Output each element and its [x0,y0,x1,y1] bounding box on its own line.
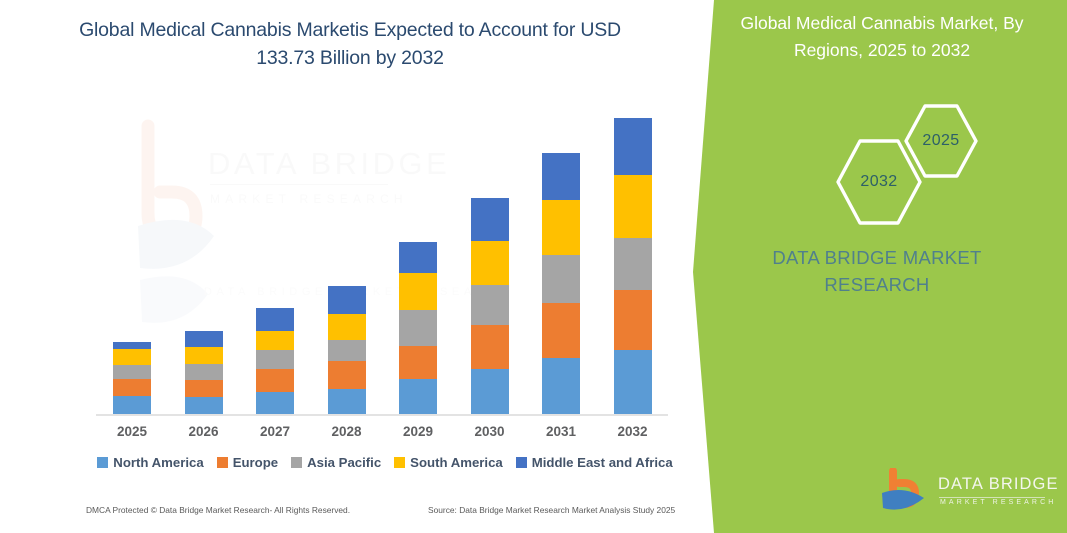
bar-segment [614,175,652,237]
bar-segment [471,369,509,415]
chart-legend: North AmericaEuropeAsia PacificSouth Ame… [96,455,674,470]
legend-item[interactable]: Europe [217,455,278,470]
bar-segment [185,397,223,415]
stacked-bar [113,342,151,415]
data-bridge-logo-icon [880,468,932,514]
bar-segment [113,365,151,379]
page-title: Global Medical Cannabis Marketis Expecte… [60,16,640,72]
legend-item[interactable]: South America [394,455,503,470]
footer: DMCA Protected © Data Bridge Market Rese… [0,505,700,527]
bar-segment [328,314,366,339]
bar-segment [256,392,294,415]
stacked-bar [614,118,652,415]
infographic-root: Global Medical Cannabis Marketis Expecte… [0,0,1067,533]
stacked-bar [542,153,580,415]
legend-swatch-icon [394,457,405,468]
legend-swatch-icon [97,457,108,468]
logo-wordmark: DATA BRIDGE [938,475,1059,494]
legend-swatch-icon [217,457,228,468]
legend-label: Europe [233,455,278,470]
bar-segment [542,153,580,200]
legend-label: South America [410,455,503,470]
stacked-bar [471,198,509,415]
x-axis-tick-label: 2027 [239,424,311,439]
hexagon-badge-start: 2025 [902,102,980,180]
legend-swatch-icon [516,457,527,468]
bar-segment [399,346,437,379]
stacked-bar [185,331,223,415]
logo-divider [939,497,1045,498]
bar-segment [328,361,366,388]
x-axis-tick-label: 2026 [168,424,240,439]
bar-segment [542,200,580,255]
bar-segment [185,380,223,398]
stacked-bar [399,242,437,415]
bar-segment [542,255,580,303]
brand-name: DATA BRIDGE MARKET RESEARCH [722,244,1032,298]
bar-segment [113,396,151,415]
legend-label: North America [113,455,203,470]
bar-segment [471,325,509,369]
x-axis-tick-label: 2028 [311,424,383,439]
bar-segment [399,379,437,415]
bar-segment [113,342,151,349]
legend-label: Asia Pacific [307,455,381,470]
x-axis-tick-label: 2029 [382,424,454,439]
footer-copyright: DMCA Protected © Data Bridge Market Rese… [86,505,350,515]
brand-panel: Global Medical Cannabis Market, By Regio… [686,0,1067,533]
bar-segment [256,308,294,331]
hexagon-start-label: 2025 [902,102,980,180]
legend-swatch-icon [291,457,302,468]
bar-segment [185,331,223,347]
x-axis-tick-label: 2025 [96,424,168,439]
bar-segment [328,340,366,362]
bar-segment [328,389,366,415]
x-axis-tick-label: 2030 [454,424,526,439]
x-axis-tick-label: 2031 [525,424,597,439]
bar-segment [542,303,580,358]
bar-segment [614,290,652,350]
bar-segment [471,198,509,241]
bar-segment [471,285,509,326]
stacked-bar [256,308,294,415]
bar-segment [256,350,294,369]
x-axis-tick-label: 2032 [597,424,669,439]
bar-segment [614,118,652,175]
bar-segment [185,364,223,380]
bar-segment [542,358,580,415]
bar-segment [113,349,151,365]
bar-segment [256,369,294,392]
bar-segment [399,273,437,309]
bar-segment [614,350,652,415]
footer-source: Source: Data Bridge Market Research Mark… [428,505,675,515]
legend-label: Middle East and Africa [532,455,673,470]
bar-segment [399,242,437,274]
brand-panel-title: Global Medical Cannabis Market, By Regio… [712,10,1052,64]
chart-panel: Global Medical Cannabis Marketis Expecte… [0,0,700,533]
legend-item[interactable]: Middle East and Africa [516,455,673,470]
legend-item[interactable]: North America [97,455,203,470]
bar-segment [113,379,151,395]
logo-tagline: MARKET RESEARCH [940,499,1056,506]
company-logo: DATA BRIDGE MARKET RESEARCH [880,468,1048,516]
stacked-bar-chart [96,110,668,415]
bar-segment [399,310,437,346]
bar-segment [328,286,366,315]
bar-segment [614,238,652,290]
legend-item[interactable]: Asia Pacific [291,455,381,470]
stacked-bar [328,286,366,415]
x-axis-labels: 20252026202720282029203020312032 [96,424,668,446]
bar-segment [471,241,509,285]
bar-segment [256,331,294,351]
bar-segment [185,347,223,363]
x-axis-line [96,414,668,416]
